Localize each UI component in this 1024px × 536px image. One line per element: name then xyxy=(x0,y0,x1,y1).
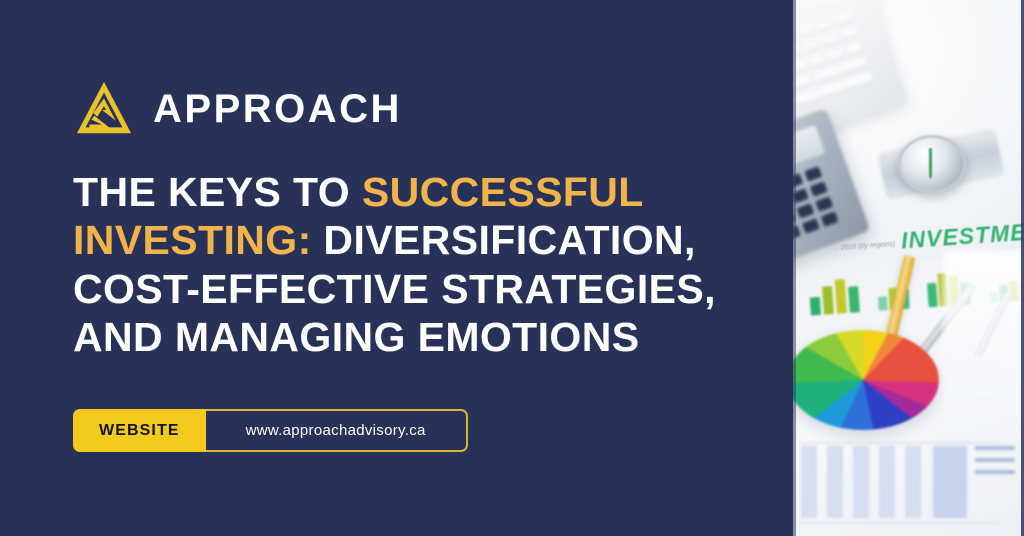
approach-triangle-logo-icon xyxy=(73,78,135,140)
paper-highlight xyxy=(943,250,1024,450)
marketing-banner: APPROACH THE KEYS TO SUCCESSFUL INVESTIN… xyxy=(0,0,1024,536)
headline-line-2: INVESTING: DIVERSIFICATION, xyxy=(73,216,773,264)
headline-line-1-white: THE KEYS TO xyxy=(73,169,362,215)
brand-logo-lockup[interactable]: APPROACH xyxy=(73,78,402,140)
website-badge-label: WEBSITE xyxy=(73,409,206,452)
headline-line-4: AND MANAGING EMOTIONS xyxy=(73,313,773,361)
website-url[interactable]: www.approachadvisory.ca xyxy=(206,409,468,452)
headline-line-1: THE KEYS TO SUCCESSFUL xyxy=(73,168,773,216)
finance-desk-photo: INVESTMENT ... 2016 (by regions) xyxy=(793,0,1024,536)
spreadsheet-graphic xyxy=(793,440,1024,536)
headline-line-1-accent: SUCCESSFUL xyxy=(362,169,644,215)
pie-chart-graphic xyxy=(793,330,939,430)
page-title: THE KEYS TO SUCCESSFUL INVESTING: DIVERS… xyxy=(73,168,773,362)
website-badge[interactable]: WEBSITE www.approachadvisory.ca xyxy=(73,409,468,452)
content-panel: APPROACH THE KEYS TO SUCCESSFUL INVESTIN… xyxy=(0,0,793,536)
wristwatch-face xyxy=(898,135,966,193)
headline-line-3: COST-EFFECTIVE STRATEGIES, xyxy=(73,265,773,313)
headline-line-2-white: DIVERSIFICATION, xyxy=(312,217,696,263)
photo-left-edge xyxy=(793,0,796,536)
brand-wordmark: APPROACH xyxy=(153,89,402,129)
headline-line-2-accent: INVESTING: xyxy=(73,217,312,263)
